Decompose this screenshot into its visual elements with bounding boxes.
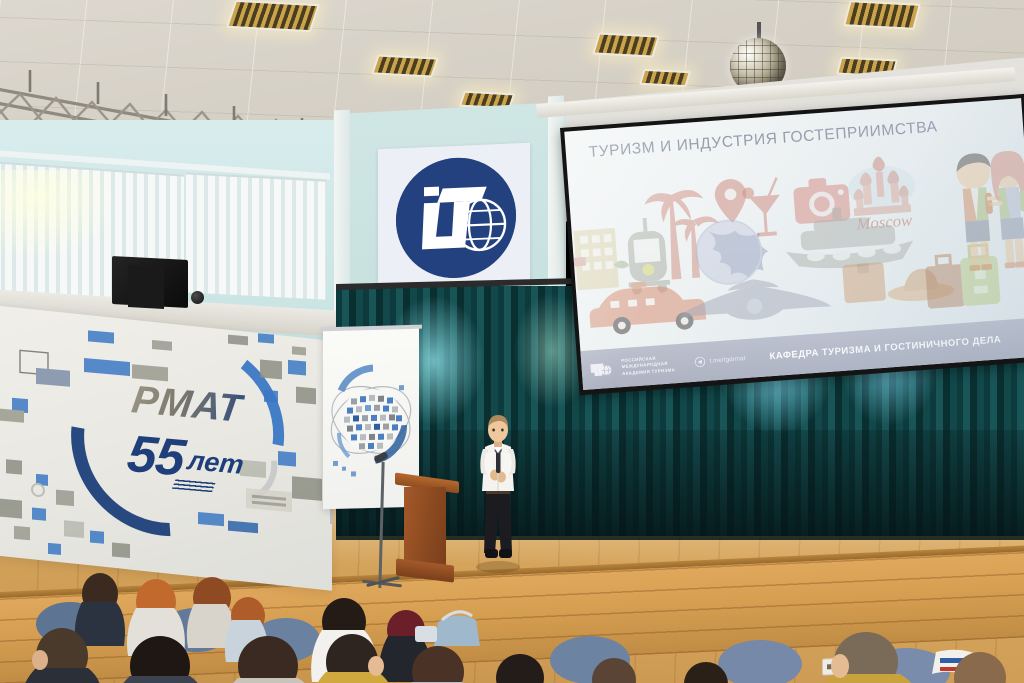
slide-illustration: Moscow (568, 142, 1024, 338)
rmat-logo-icon (589, 360, 612, 378)
speaker-person (468, 415, 528, 577)
audience-rows (0, 560, 1024, 683)
telegram-icon (694, 356, 706, 368)
ceiling-light (371, 54, 439, 77)
ceiling-light (592, 32, 660, 57)
equipment-knob (191, 291, 204, 304)
institute-logo-poster (378, 143, 530, 300)
audience-person (75, 573, 125, 646)
banner-anniversary-word: лет (186, 445, 246, 480)
podium (404, 487, 446, 565)
ceiling-light (639, 69, 691, 87)
telegram-handle: t.me/tgdrmat (709, 356, 745, 365)
moscow-cathedral-icon (846, 154, 917, 216)
tram-icon (624, 217, 671, 296)
conference-hall-photo: ТУРИЗМ И ИНДУСТРИЯ ГОСТЕПРИИМСТВА (0, 0, 1024, 683)
globe-icon (694, 218, 770, 286)
window-blinds (186, 172, 326, 299)
academy-name: РОССИЙСКАЯ МЕЖДУНАРОДНАЯ АКАДЕМИЯ ТУРИЗМ… (621, 354, 675, 377)
ceiling-light (843, 0, 921, 30)
rmat-wall-banner: РМАТ 55 лет (0, 305, 332, 591)
ceiling-light (226, 0, 320, 32)
location-pin-icon (714, 178, 749, 224)
equipment-box (128, 265, 164, 309)
hotel-building-icon (568, 227, 631, 291)
projector-screen: ТУРИЗМ И ИНДУСТРИЯ ГОСТЕПРИИМСТВА (560, 94, 1024, 395)
audience-person (483, 654, 558, 683)
slide-surface: ТУРИЗМ И ИНДУСТРИЯ ГОСТЕПРИИМСТВА (564, 98, 1024, 390)
department-name: КАФЕДРА ТУРИЗМА И ГОСТИНИЧНОГО ДЕЛА (769, 334, 1001, 362)
camera-icon (793, 176, 851, 224)
logo-mark-icon (396, 155, 516, 280)
audience-bag (415, 612, 480, 646)
telegram-link: t.me/tgdrmat (694, 353, 746, 368)
suitcase-icon (842, 262, 886, 303)
